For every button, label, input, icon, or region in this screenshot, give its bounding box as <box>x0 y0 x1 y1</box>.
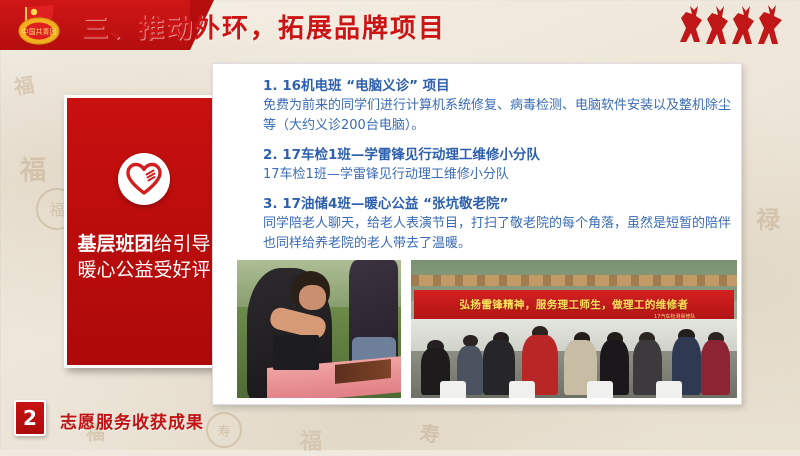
communist-youth-league-emblem: 中国共青团 <box>8 3 70 48</box>
background-glyph: 寿 <box>419 417 442 448</box>
event-banner-text: 弘扬雷锋精神，服务理工师生，做理工的维修者 <box>460 297 689 312</box>
item-title: 2. 17车检1班—学雷锋见行动理工维修小分队 <box>263 145 735 165</box>
highlight-line2: 暖心公益受好评 <box>67 257 221 283</box>
content-panel: 1. 16机电班 “电脑义诊” 项目 免费为前来的同学们进行计算机系统修复、病毒… <box>212 63 742 405</box>
photo-computer-repair <box>237 260 401 398</box>
page-header: 中国共青团 三、推动外环，拓展品牌项目 <box>0 0 800 50</box>
highlight-line1-rest: 给引导 <box>154 233 211 255</box>
photo-row: 弘扬雷锋精神，服务理工师生，做理工的维修者 17汽车检测易修队 <box>237 260 737 398</box>
heart-hand-icon <box>118 153 170 205</box>
footer-page-number: 2 <box>14 400 46 436</box>
page-title: 三、推动外环，拓展品牌项目 <box>82 8 446 45</box>
photo-lei-feng-banner-event: 弘扬雷锋精神，服务理工师生，做理工的维修者 17汽车检测易修队 <box>411 260 737 398</box>
item-body: 17车检1班—学雷锋见行动理工维修小分队 <box>263 165 735 185</box>
list-item: 1. 16机电班 “电脑义诊” 项目 免费为前来的同学们进行计算机系统修复、病毒… <box>263 76 735 136</box>
jumping-people-silhouettes <box>668 2 788 48</box>
list-item: 2. 17车检1班—学雷锋见行动理工维修小分队 17车检1班—学雷锋见行动理工维… <box>263 145 735 185</box>
item-body: 免费为前来的同学们进行计算机系统修复、病毒检测、电脑软件安装以及整机除尘等（大约… <box>263 96 735 136</box>
project-list: 1. 16机电班 “电脑义诊” 项目 免费为前来的同学们进行计算机系统修复、病毒… <box>263 76 735 263</box>
background-glyph: 福 <box>300 424 322 456</box>
item-body: 同学陪老人聊天，给老人表演节目，打扫了敬老院的每个角落，虽然是短暂的陪伴也同样给… <box>263 214 735 254</box>
item-title: 3. 17油储4班—暖心公益 “张坑敬老院” <box>263 194 735 214</box>
background-seal: 寿 <box>206 412 242 448</box>
list-item: 3. 17油储4班—暖心公益 “张坑敬老院” 同学陪老人聊天，给老人表演节目，打… <box>263 194 735 254</box>
footer-label: 志愿服务收获成果 <box>60 408 204 433</box>
svg-text:中国共青团: 中国共青团 <box>22 27 57 36</box>
highlight-line1-bold: 基层班团 <box>77 233 153 255</box>
event-banner: 弘扬雷锋精神，服务理工师生，做理工的维修者 17汽车检测易修队 <box>414 290 733 319</box>
item-title: 1. 16机电班 “电脑义诊” 项目 <box>263 76 735 96</box>
event-banner-subtext: 17汽车检测易修队 <box>654 313 695 320</box>
highlight-card: 基层班团给引导 暖心公益受好评 <box>64 95 224 368</box>
background-glyph: 福 <box>20 150 46 187</box>
background-glyph: 福 <box>12 69 36 101</box>
highlight-card-text: 基层班团给引导 暖心公益受好评 <box>67 231 221 283</box>
background-glyph: 禄 <box>756 200 780 235</box>
